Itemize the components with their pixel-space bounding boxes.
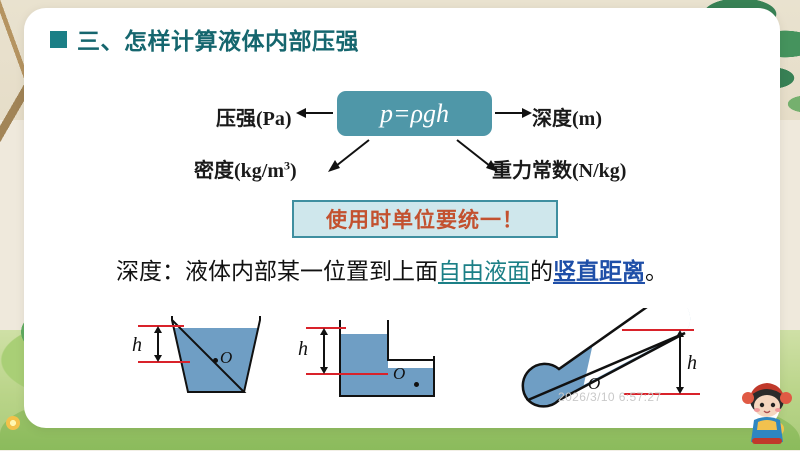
unit-note-box: 使用时单位要统一！	[292, 200, 558, 238]
definition-sentence: 深度：液体内部某一位置到上面自由液面的竖直距离。	[116, 252, 716, 286]
title-text: 三、怎样计算液体内部压强	[77, 22, 359, 56]
arrow-to-density-icon	[324, 138, 372, 172]
title-bullet-icon	[50, 31, 67, 48]
label-gravity: 重力常数(N/kg)	[492, 154, 626, 183]
label-depth: 深度(m)	[532, 102, 602, 131]
mascot-icon	[740, 380, 794, 446]
arrow-to-gravity-icon	[454, 138, 502, 172]
figure2-h-label: h	[298, 338, 308, 361]
sentence-part3: 。	[645, 259, 668, 284]
sentence-highlight-free-surface: 自由液面	[438, 259, 530, 284]
sentence-highlight-vertical-distance: 竖直距离	[553, 259, 645, 284]
formula-expression: p=ρgh	[380, 99, 449, 129]
label-density-suffix: )	[290, 160, 297, 182]
label-density: 密度(kg/m3)	[194, 154, 297, 183]
arrow-to-depth-icon	[494, 104, 532, 122]
figure-step-container: h O	[292, 312, 472, 413]
figure2-point-dot	[414, 382, 419, 387]
arrow-to-pressure-icon	[296, 104, 334, 122]
page-title: 三、怎样计算液体内部压强	[50, 22, 359, 56]
flower-icon	[6, 416, 20, 430]
figure2-o-label: O	[393, 364, 405, 384]
figures-group: h O h O	[24, 308, 780, 428]
label-pressure: 压强(Pa)	[216, 102, 292, 131]
figure1-h-label: h	[132, 334, 142, 357]
figure3-h-label: h	[687, 352, 697, 375]
sentence-part2: 的	[530, 259, 553, 284]
figure1-o-label: O	[220, 348, 232, 368]
timestamp: 2026/3/10 6:57:27	[558, 390, 662, 404]
label-density-prefix: 密度(kg/m	[194, 160, 284, 182]
figure-trapezoid-container: h O	[128, 312, 288, 413]
figure1-point-dot	[213, 358, 218, 363]
formula-box: p=ρgh	[337, 91, 492, 136]
unit-note-text: 使用时单位要统一！	[326, 204, 524, 234]
figure-tilted-tube: h O	[504, 308, 724, 423]
slide-card: 三、怎样计算液体内部压强 p=ρgh 压强(Pa) 深度(m) 密度(kg/m3…	[24, 8, 780, 428]
sentence-part1: 深度：液体内部某一位置到上面	[116, 259, 438, 284]
